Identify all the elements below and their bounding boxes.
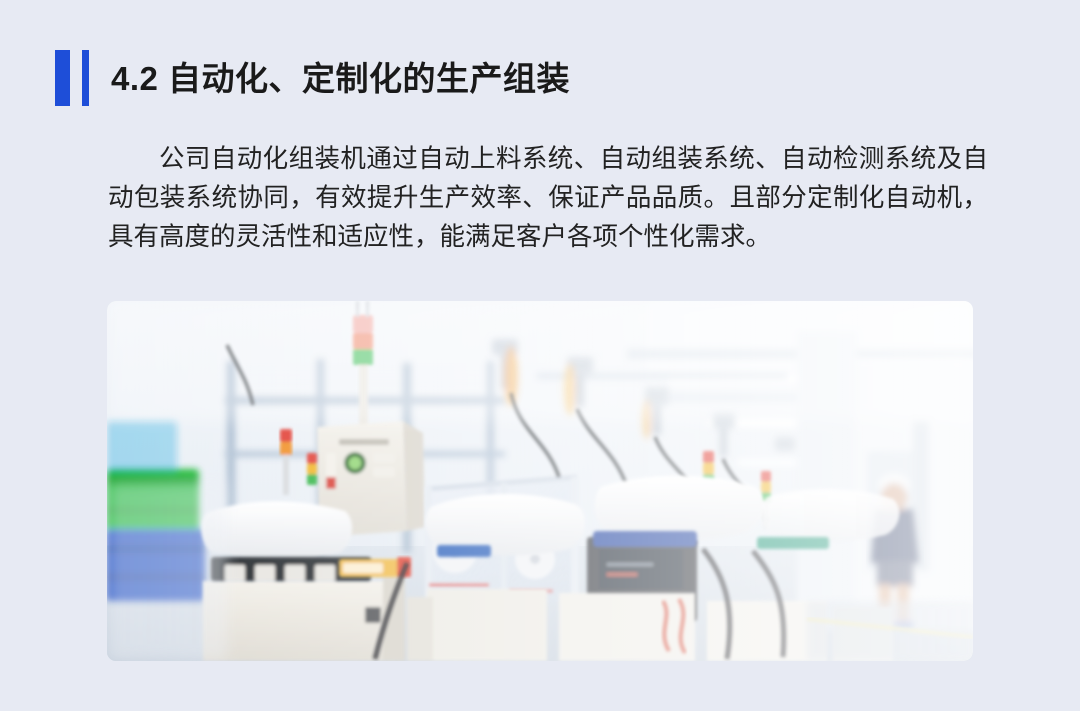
page-title: 4.2 自动化、定制化的生产组装 (111, 62, 570, 95)
photo-left-fade (107, 481, 227, 661)
body-paragraph: 公司自动化组装机通过自动上料系统、自动组装系统、自动检测系统及自动包装系统协同，… (108, 140, 988, 257)
accent-bar-narrow-icon (82, 50, 89, 106)
accent-bars (55, 50, 89, 106)
page-heading: 4.2 自动化、定制化的生产组装 (55, 48, 570, 108)
factory-photo (107, 301, 973, 661)
factory-photo-illustration (107, 301, 973, 661)
slide-root: 4.2 自动化、定制化的生产组装 公司自动化组装机通过自动上料系统、自动组装系统… (0, 0, 1080, 711)
photo-top-glow (107, 301, 973, 421)
accent-bar-wide-icon (55, 50, 70, 106)
